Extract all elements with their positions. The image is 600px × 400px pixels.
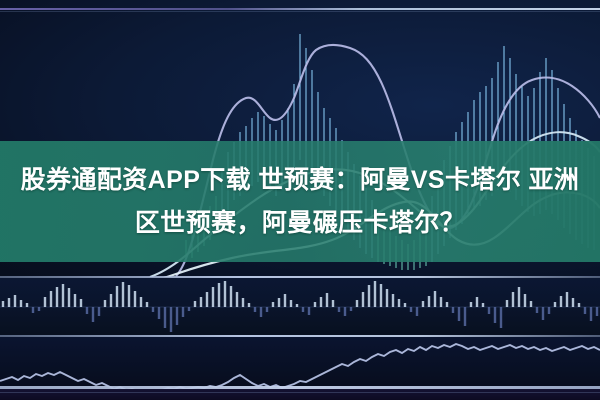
top-divider-line-secondary bbox=[0, 11, 600, 12]
secondary-line-series bbox=[0, 344, 600, 392]
price-macd-divider-line bbox=[0, 276, 600, 278]
macd-histogram-svg bbox=[0, 278, 600, 336]
macd-line-divider bbox=[0, 335, 600, 337]
stock-chart-banner-image: 股券通配资APP下载 世预赛：阿曼VS卡塔尔 亚洲区世预赛，阿曼碾压卡塔尔？ bbox=[0, 0, 600, 400]
bottom-edge-fill bbox=[0, 389, 600, 400]
top-divider-line bbox=[0, 8, 600, 10]
macd-histogram-panel bbox=[0, 278, 600, 336]
bottom-divider-line bbox=[0, 386, 600, 389]
headline-banner: 股券通配资APP下载 世预赛：阿曼VS卡塔尔 亚洲区世预赛，阿曼碾压卡塔尔？ bbox=[0, 141, 600, 262]
headline-text: 股券通配资APP下载 世预赛：阿曼VS卡塔尔 亚洲区世预赛，阿曼碾压卡塔尔？ bbox=[20, 159, 580, 245]
bottom-divider-line-secondary bbox=[0, 392, 600, 393]
